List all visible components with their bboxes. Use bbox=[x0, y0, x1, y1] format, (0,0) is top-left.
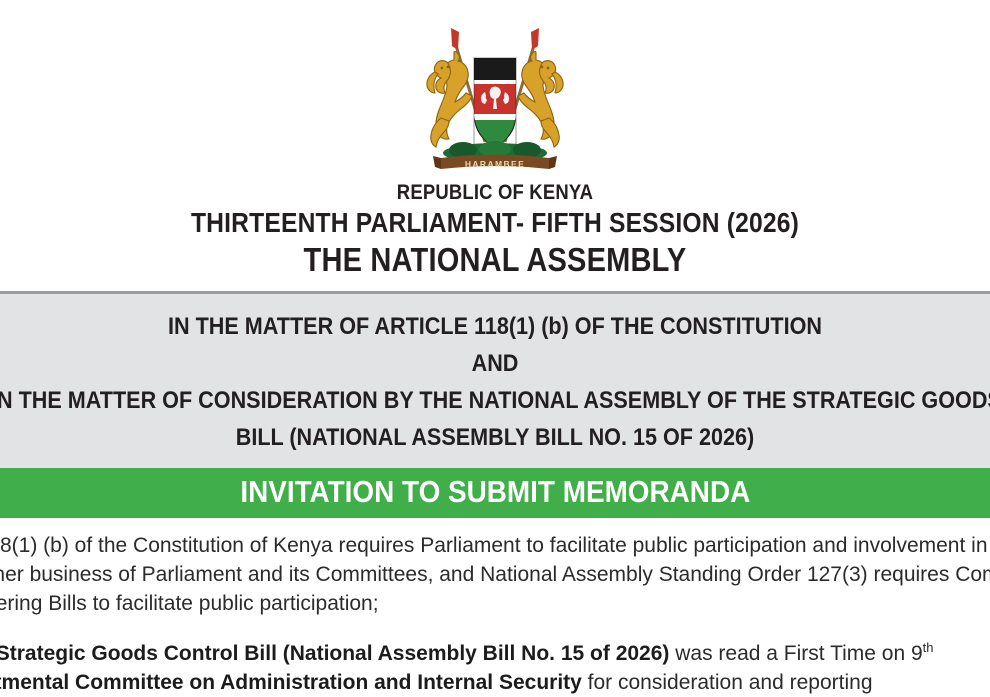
matter-line-consideration: IN THE MATTER OF CONSIDERATION BY THE NA… bbox=[0, 382, 990, 419]
parliament-session-title: THIRTEENTH PARLIAMENT- FIFTH SESSION (20… bbox=[2, 206, 988, 240]
bill-read-text: was read a First Time on 9 bbox=[669, 642, 922, 665]
harambee-motto-text: HARAMBEE bbox=[465, 159, 525, 169]
republic-title: REPUBLIC OF KENYA bbox=[2, 180, 988, 206]
invitation-banner-title: INVITATION TO SUBMIT MEMORANDA bbox=[240, 473, 750, 511]
committee-name-bold: Departmental Committee on Administration… bbox=[0, 671, 582, 694]
paragraph-whereas-line-3: considering Bills to facilitate public p… bbox=[0, 589, 990, 618]
notice-document: HARAMBEE REPUBLIC OF KENYA THIRTEENTH PA… bbox=[0, 0, 990, 680]
matter-band: IN THE MATTER OF ARTICLE 118(1) (b) OF T… bbox=[0, 291, 990, 468]
bill-name-bold: Strategic Goods Control Bill (National A… bbox=[0, 642, 669, 665]
paragraph-whereas: ticle 118(1) (b) of the Constitution of … bbox=[0, 531, 990, 618]
matter-line-bill: BILL (NATIONAL ASSEMBLY BILL NO. 15 OF 2… bbox=[0, 419, 990, 456]
invitation-banner: INVITATION TO SUBMIT MEMORANDA bbox=[0, 468, 990, 518]
kenya-coat-of-arms-icon: HARAMBEE bbox=[411, 24, 579, 174]
paragraph-bill-reading: S, the Strategic Goods Control Bill (Nat… bbox=[0, 633, 990, 697]
coat-of-arms-container: HARAMBEE bbox=[0, 0, 990, 174]
national-assembly-title: THE NATIONAL ASSEMBLY bbox=[2, 240, 988, 280]
matter-line-article: IN THE MATTER OF ARTICLE 118(1) (b) OF T… bbox=[0, 308, 990, 345]
bill-date-ordinal: th bbox=[923, 640, 934, 655]
document-header: REPUBLIC OF KENYA THIRTEENTH PARLIAMENT-… bbox=[0, 174, 990, 280]
paragraph-bill-reading-line-2: Departmental Committee on Administration… bbox=[0, 668, 990, 697]
paragraph-bill-reading-line-1: S, the Strategic Goods Control Bill (Nat… bbox=[0, 633, 990, 668]
matter-line-and: AND bbox=[0, 345, 990, 382]
committee-tail-text: for consideration and reporting bbox=[582, 671, 873, 694]
paragraph-whereas-line-2: and other business of Parliament and its… bbox=[0, 560, 990, 589]
paragraph-whereas-line-1: ticle 118(1) (b) of the Constitution of … bbox=[0, 531, 990, 560]
document-body: ticle 118(1) (b) of the Constitution of … bbox=[0, 518, 990, 697]
